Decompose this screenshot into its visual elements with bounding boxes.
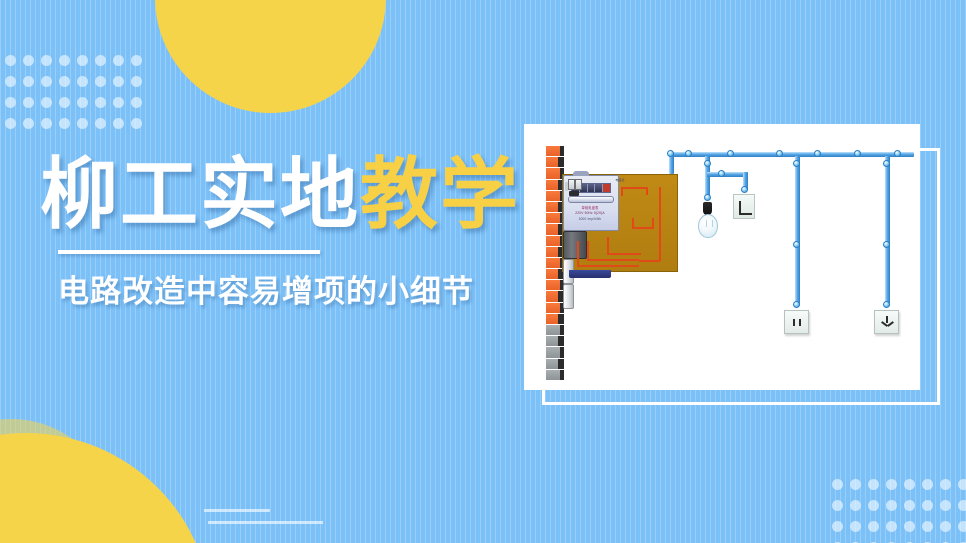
decor-dot-grid-bottom-right — [832, 479, 966, 543]
wall-switch-icon — [733, 194, 755, 219]
poster-canvas: 柳工实地教学 电路改造中容易增项的小细节 — [0, 0, 966, 543]
page-title: 柳工实地教学 — [40, 152, 510, 236]
circuit-breaker-icon — [563, 231, 587, 259]
decor-circle-bottom-left — [0, 433, 212, 543]
conduit-node — [667, 150, 674, 157]
light-bulb-icon — [698, 214, 718, 238]
page-title-segment-accent: 教学 — [360, 150, 520, 238]
conduit-node — [741, 186, 748, 193]
conduit-node — [854, 150, 861, 157]
conduit-switch-branch — [707, 172, 747, 177]
conduit-node — [883, 160, 890, 167]
title-divider — [58, 250, 320, 254]
conduit-node — [883, 241, 890, 248]
decor-accent-line-2 — [208, 521, 323, 524]
conduit-outlet-2-drop — [885, 156, 890, 306]
page-title-segment-primary: 柳工实地 — [40, 150, 360, 238]
decor-circle-top — [155, 0, 386, 113]
fuse-holder-right-icon — [563, 284, 574, 309]
conduit-node — [727, 150, 734, 157]
electric-meter-board-icon: 电度表 单相电度表 220V 50Hz 5(20)A 3000 imp/kWh — [562, 174, 678, 272]
decor-accent-line-1 — [204, 509, 270, 512]
conduit-node — [814, 150, 821, 157]
conduit-outlet-1-drop — [795, 156, 800, 306]
meter-label-line-3: 3000 imp/kWh — [568, 217, 612, 221]
conduit-node — [894, 150, 901, 157]
outlet-two-prong-icon — [784, 310, 809, 334]
meter-label-line-1: 单相电度表 — [568, 205, 612, 210]
conduit-node — [704, 194, 711, 201]
conduit-node — [793, 301, 800, 308]
conduit-node — [793, 160, 800, 167]
conduit-node — [685, 150, 692, 157]
illustration-panel: 电度表 单相电度表 220V 50Hz 5(20)A 3000 imp/kWh — [524, 124, 920, 390]
conduit-node — [883, 301, 890, 308]
outlet-three-prong-icon — [874, 310, 899, 334]
headline-block: 柳工实地教学 电路改造中容易增项的小细节 — [40, 152, 510, 311]
conduit-node — [704, 160, 711, 167]
conduit-node — [718, 170, 725, 177]
meter-label-line-2: 220V 50Hz 5(20)A — [568, 211, 612, 215]
conduit-node — [793, 241, 800, 248]
conduit-node — [776, 150, 783, 157]
page-subtitle: 电路改造中容易增项的小细节 — [58, 266, 510, 311]
decor-dot-grid-top-left — [5, 55, 149, 139]
decor-circle-bottom-left-light — [0, 419, 116, 543]
